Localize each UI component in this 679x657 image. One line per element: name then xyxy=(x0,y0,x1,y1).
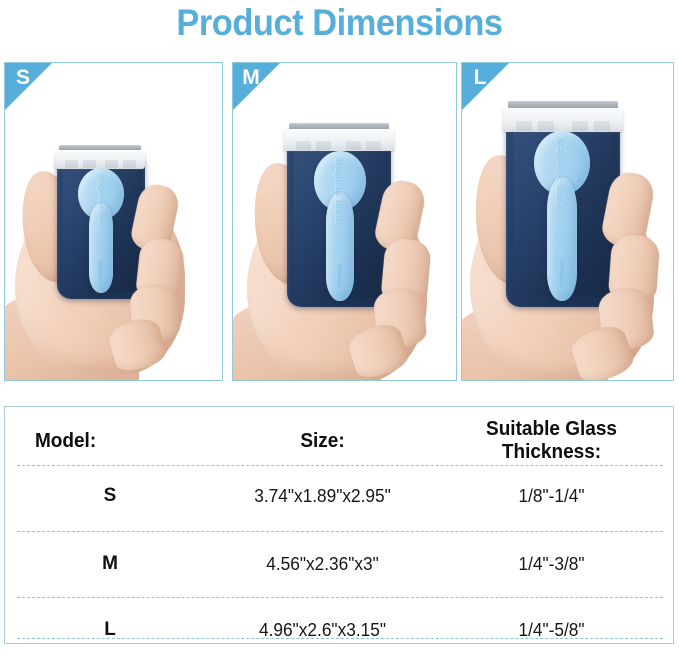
size-badge-label-l: L xyxy=(468,65,492,91)
row-divider xyxy=(17,531,663,532)
squeegee-slot-l xyxy=(572,121,588,131)
handle-label-l: Magnetic brush xyxy=(555,139,565,212)
squeegee-slot-l xyxy=(516,121,532,131)
row-divider xyxy=(17,465,663,466)
table-row: S 3.74"x1.89"x2.95" 1/8"-1/4" xyxy=(5,469,673,523)
column-header-size: Size: xyxy=(220,430,424,453)
page-title: Product Dimensions xyxy=(24,0,655,46)
squeegee-slot-s xyxy=(83,160,96,168)
table-header-row: Model: Size: Suitable Glass Thickness: xyxy=(5,421,673,461)
squeegee-slot-l xyxy=(594,121,610,131)
handle-label-s: Magnetic brush xyxy=(97,175,104,234)
size-badge-label-m: M xyxy=(239,65,263,91)
squeegee-slot-s xyxy=(123,160,136,168)
squeegee-slot-s xyxy=(65,160,78,168)
product-panels: Magnetic brush ❖ Mokkapro S xyxy=(0,62,679,382)
squeegee-slot-m xyxy=(316,141,331,150)
cell-size: 4.56"x2.36"x3" xyxy=(219,554,425,575)
cell-thickness: 1/8"-1/4" xyxy=(435,486,668,507)
specification-table: Model: Size: Suitable Glass Thickness: S… xyxy=(4,406,674,644)
cell-thickness: 1/4"-3/8" xyxy=(435,554,668,575)
squeegee-slot-l xyxy=(538,121,554,131)
squeegee-slot-m xyxy=(346,141,361,150)
size-badge-label-s: S xyxy=(11,65,35,91)
squeegee-slot-s xyxy=(105,160,118,168)
product-panel-s: Magnetic brush ❖ Mokkapro S xyxy=(4,62,223,381)
column-header-thickness: Suitable Glass Thickness: xyxy=(436,418,667,464)
brand-label-m: Mokkapro xyxy=(336,265,342,287)
brand-glyph-l: ❖ xyxy=(555,249,564,260)
cell-model: S xyxy=(5,485,215,507)
product-panel-l: Magnetic brush ❖ Mokkapro L xyxy=(461,62,674,381)
brand-label-l: Mokkapro xyxy=(558,261,564,287)
brand-label-s: Mokkapro xyxy=(97,261,103,283)
table-row: M 4.56"x2.36"x3" 1/4"-3/8" xyxy=(5,537,673,591)
row-divider xyxy=(17,638,663,639)
squeegee-slot-m xyxy=(366,141,381,150)
cell-model: M xyxy=(5,553,215,575)
product-panel-m: Magnetic brush ❖ Mokkapro M xyxy=(232,62,457,381)
table-row: L 4.96"x2.6"x3.15" 1/4"-5/8" xyxy=(5,603,673,657)
row-divider xyxy=(17,597,663,598)
column-header-model: Model: xyxy=(10,430,210,453)
handle-label-m: Magnetic brush xyxy=(334,159,343,225)
cell-size: 3.74"x1.89"x2.95" xyxy=(219,486,425,507)
squeegee-slot-m xyxy=(296,141,311,150)
